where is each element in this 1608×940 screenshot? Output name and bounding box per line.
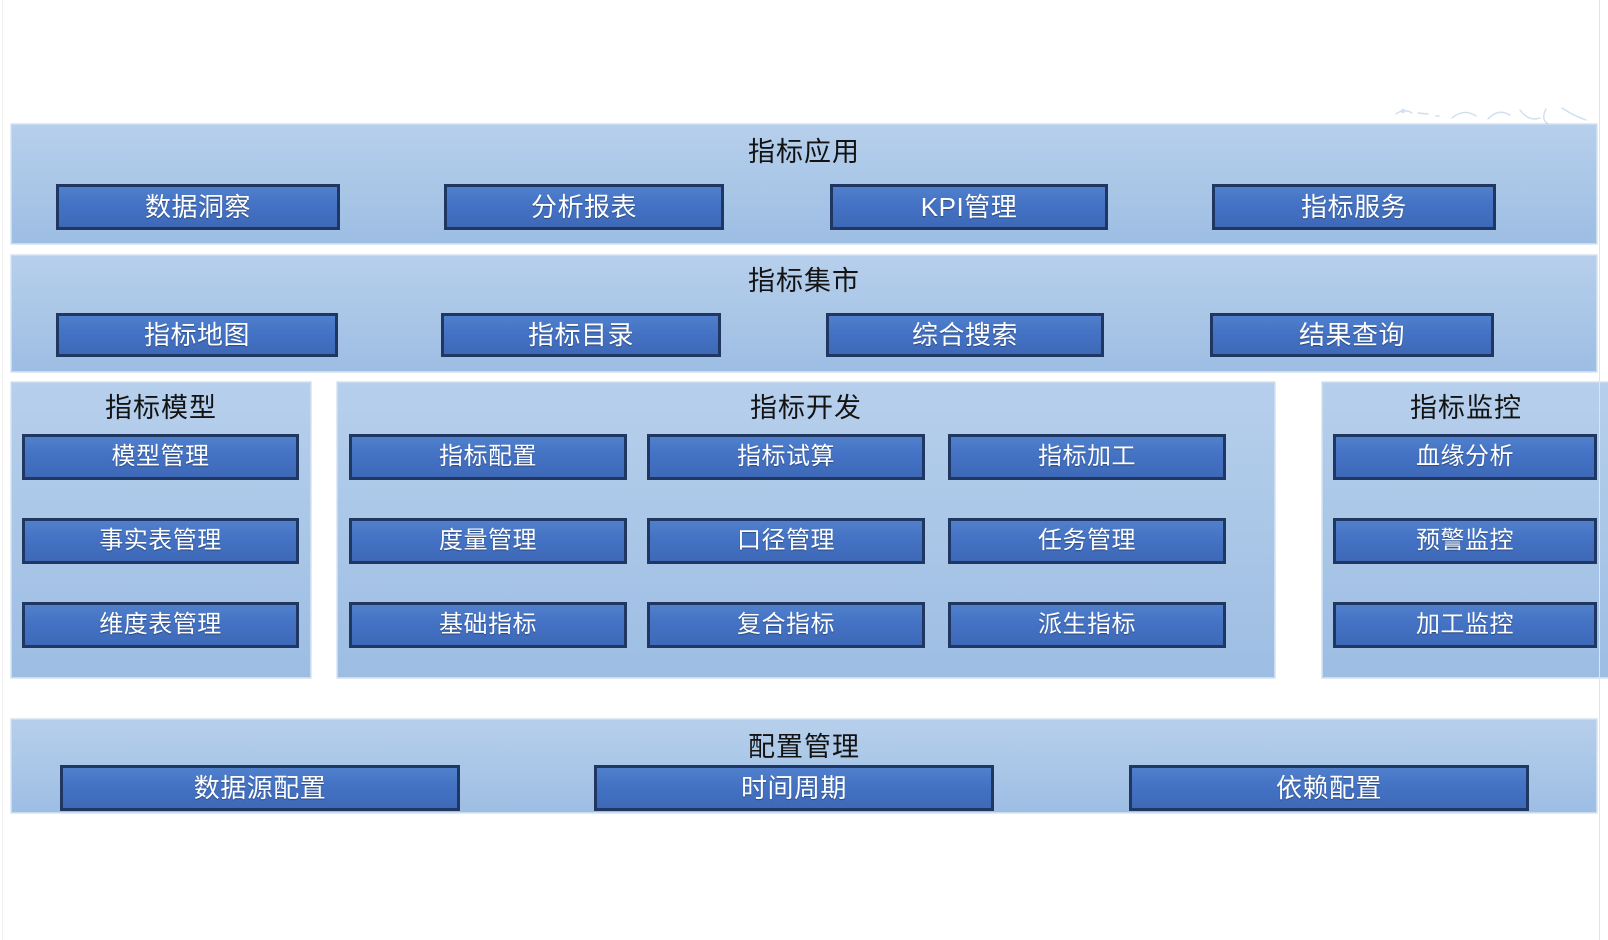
node-task-management[interactable]: 任务管理 xyxy=(948,518,1226,564)
node-indicator-trial-calculation[interactable]: 指标试算 xyxy=(647,434,925,480)
section-monitoring-title: 指标监控 xyxy=(1323,393,1608,423)
node-processing-monitoring[interactable]: 加工监控 xyxy=(1333,602,1597,648)
section-model-title: 指标模型 xyxy=(12,393,310,423)
section-marketplace-title: 指标集市 xyxy=(12,266,1596,296)
node-basic-indicator[interactable]: 基础指标 xyxy=(349,602,627,648)
node-composite-indicator[interactable]: 复合指标 xyxy=(647,602,925,648)
node-model-management[interactable]: 模型管理 xyxy=(22,434,299,480)
node-indicator-service[interactable]: 指标服务 xyxy=(1212,184,1496,230)
section-development-title: 指标开发 xyxy=(338,393,1274,423)
node-data-insight[interactable]: 数据洞察 xyxy=(56,184,340,230)
node-fact-table-management[interactable]: 事实表管理 xyxy=(22,518,299,564)
node-datasource-configuration[interactable]: 数据源配置 xyxy=(60,765,460,811)
node-indicator-configuration[interactable]: 指标配置 xyxy=(349,434,627,480)
section-configuration-title: 配置管理 xyxy=(12,732,1596,762)
node-caliber-management[interactable]: 口径管理 xyxy=(647,518,925,564)
node-dependency-configuration[interactable]: 依赖配置 xyxy=(1129,765,1529,811)
node-derived-indicator[interactable]: 派生指标 xyxy=(948,602,1226,648)
node-measure-management[interactable]: 度量管理 xyxy=(349,518,627,564)
node-analysis-report[interactable]: 分析报表 xyxy=(444,184,724,230)
node-lineage-analysis[interactable]: 血缘分析 xyxy=(1333,434,1597,480)
right-edge-rule xyxy=(1599,0,1600,940)
architecture-diagram-canvas: 指标应用 数据洞察 分析报表 KPI管理 指标服务 指标集市 指标地图 指标目录… xyxy=(0,0,1608,940)
node-time-period[interactable]: 时间周期 xyxy=(594,765,994,811)
node-indicator-catalog[interactable]: 指标目录 xyxy=(441,313,721,357)
node-alert-monitoring[interactable]: 预警监控 xyxy=(1333,518,1597,564)
node-comprehensive-search[interactable]: 综合搜索 xyxy=(826,313,1104,357)
node-kpi-management[interactable]: KPI管理 xyxy=(830,184,1108,230)
node-dimension-table-management[interactable]: 维度表管理 xyxy=(22,602,299,648)
node-indicator-map[interactable]: 指标地图 xyxy=(56,313,338,357)
section-application-title: 指标应用 xyxy=(12,137,1596,167)
node-result-query[interactable]: 结果查询 xyxy=(1210,313,1494,357)
node-indicator-processing[interactable]: 指标加工 xyxy=(948,434,1226,480)
left-edge-rule xyxy=(2,0,3,940)
